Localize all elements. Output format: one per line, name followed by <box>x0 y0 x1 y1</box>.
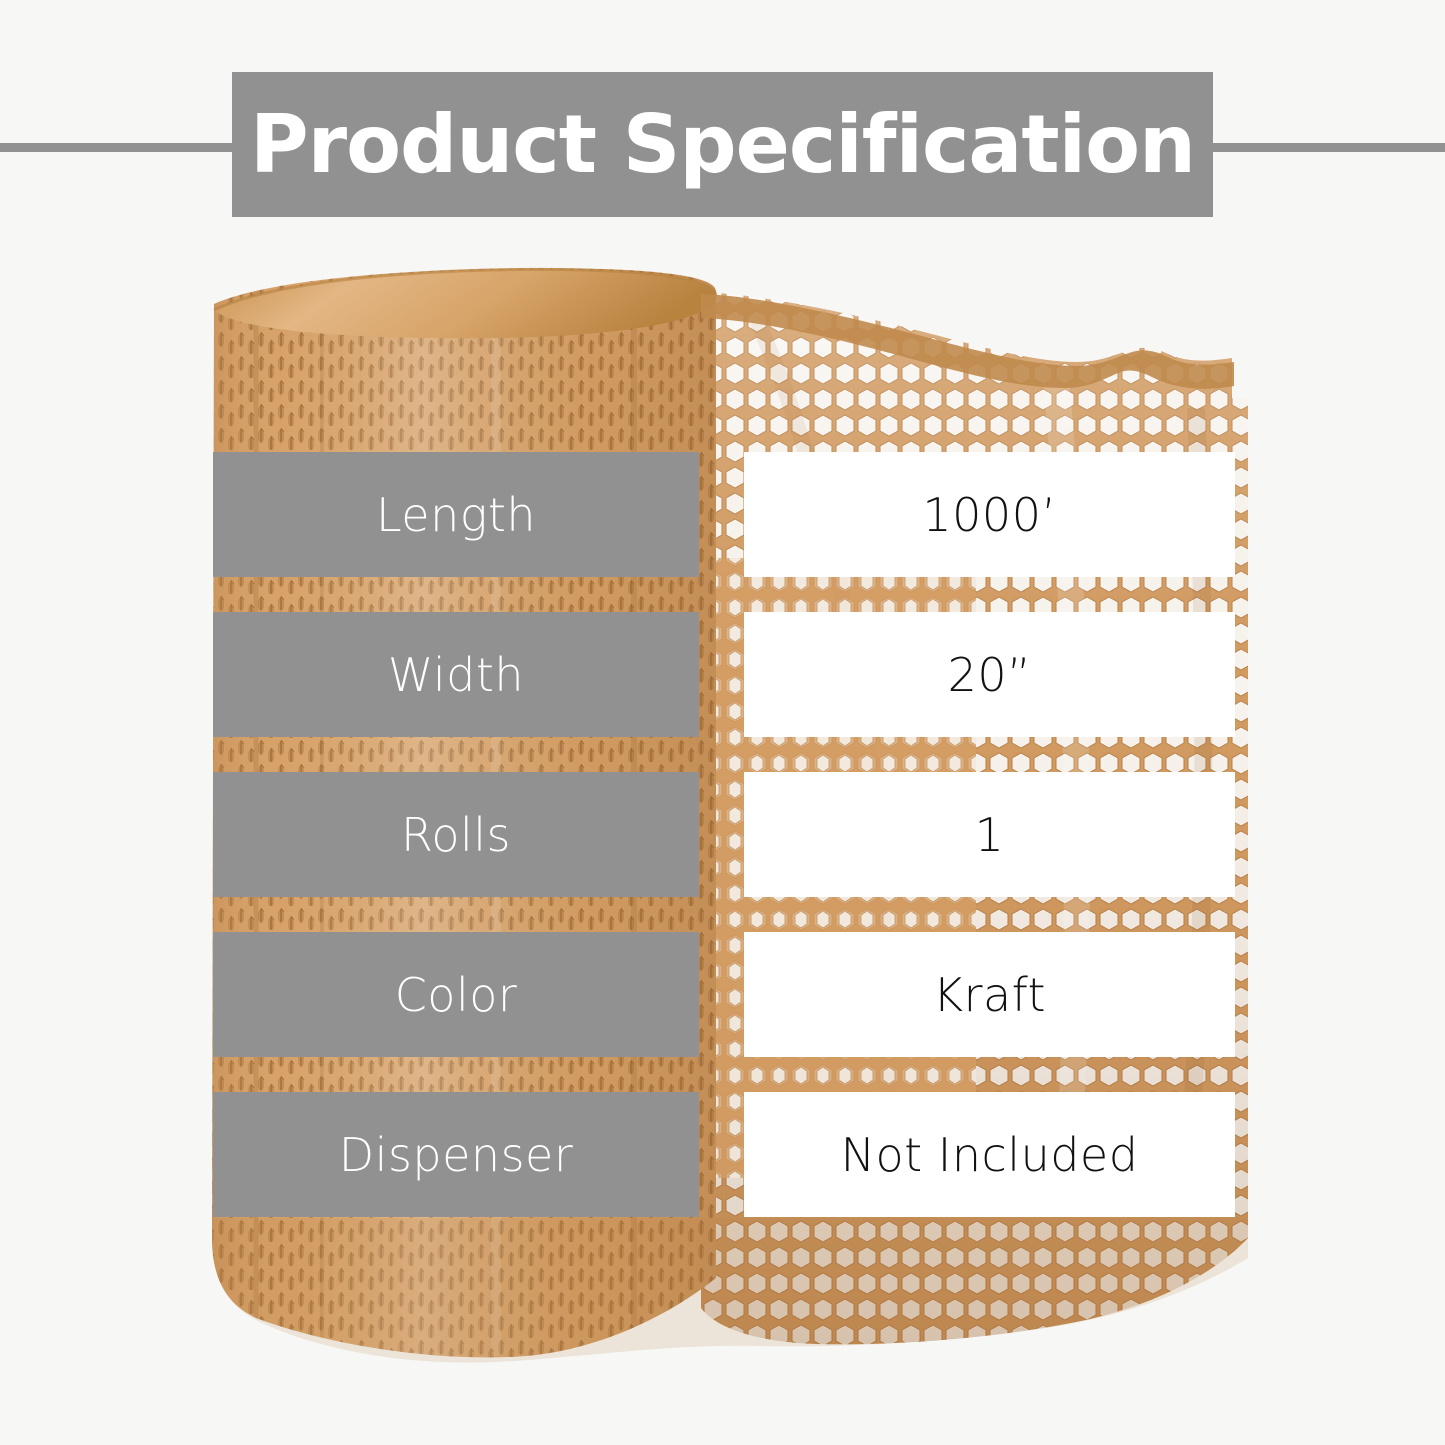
page-title: Product Specification <box>250 105 1195 185</box>
spec-value-length: 1000’ <box>744 452 1235 577</box>
spec-value-width: 20” <box>744 612 1235 737</box>
spec-value-color: Kraft <box>744 932 1235 1057</box>
spec-value-text: 20” <box>948 652 1032 698</box>
spec-row: Length 1000’ <box>213 452 1235 577</box>
spec-value-rolls: 1 <box>744 772 1235 897</box>
product-specification-page: Product Specification <box>0 0 1445 1445</box>
spec-label-rolls: Rolls <box>213 772 699 897</box>
spec-table: Length 1000’ Width 20” Rolls 1 Colo <box>213 452 1235 1217</box>
spec-label-text: Rolls <box>401 812 511 858</box>
spec-value-text: Not Included <box>841 1132 1139 1178</box>
spec-label-text: Dispenser <box>339 1132 574 1178</box>
spec-label-length: Length <box>213 452 699 577</box>
header-rule-left <box>0 143 238 152</box>
spec-value-text: 1000’ <box>922 492 1056 538</box>
spec-row: Rolls 1 <box>213 772 1235 897</box>
paper-bottom-edge <box>196 1208 1276 1403</box>
spec-row: Color Kraft <box>213 932 1235 1057</box>
spec-label-text: Width <box>388 652 524 698</box>
spec-value-dispenser: Not Included <box>744 1092 1235 1217</box>
title-banner: Product Specification <box>232 72 1213 217</box>
spec-label-color: Color <box>213 932 699 1057</box>
spec-value-text: 1 <box>975 812 1005 858</box>
spec-row: Width 20” <box>213 612 1235 737</box>
spec-label-dispenser: Dispenser <box>213 1092 699 1217</box>
spec-label-width: Width <box>213 612 699 737</box>
spec-value-text: Kraft <box>933 972 1046 1018</box>
spec-label-text: Color <box>395 972 518 1018</box>
header-rule-right <box>1207 143 1445 152</box>
spec-label-text: Length <box>376 492 536 538</box>
spec-row: Dispenser Not Included <box>213 1092 1235 1217</box>
